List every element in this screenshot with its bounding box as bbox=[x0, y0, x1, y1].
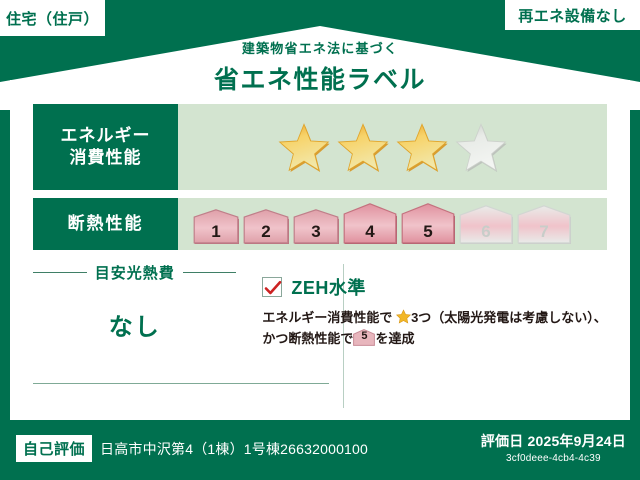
inline-insulation-badge: 5 bbox=[353, 329, 375, 346]
property-address: 日高市中沢第4（1棟）1号棟26632000100 bbox=[100, 439, 368, 459]
zeh-desc-part3: を達成 bbox=[375, 331, 414, 346]
inline-insulation-badge-number: 5 bbox=[353, 328, 375, 346]
tag-housing-type-label: 住宅（住戸） bbox=[6, 8, 99, 29]
bottom-section: 目安光熱費 なし ZEH水準 エネルギー消費性能で bbox=[23, 256, 617, 416]
tag-housing-type: 住宅（住戸） bbox=[0, 0, 105, 36]
footer-left: 自己評価 日高市中沢第4（1棟）1号棟26632000100 bbox=[16, 435, 368, 462]
insulation-grade-badge: 6 bbox=[458, 205, 514, 245]
insulation-grade-badge: 7 bbox=[516, 205, 572, 245]
star-icon bbox=[396, 309, 411, 324]
self-evaluation-badge: 自己評価 bbox=[16, 435, 92, 462]
star-icon bbox=[278, 121, 330, 173]
insulation-grade-badge: 5 bbox=[400, 203, 456, 245]
house-badge-icon bbox=[516, 205, 572, 245]
insulation-label: 断熱性能 bbox=[68, 213, 144, 235]
footer-right: 評価日 2025年9月24日 3cf0deee-4cb4-4c39 bbox=[481, 431, 626, 464]
star-rating bbox=[278, 121, 507, 173]
heading-rule-right bbox=[183, 272, 237, 273]
insulation-grade-badge: 2 bbox=[242, 209, 290, 245]
page-title: 省エネ性能ラベル bbox=[0, 60, 640, 96]
row-energy-performance: エネルギー 消費性能 bbox=[33, 104, 607, 190]
zeh-description: エネルギー消費性能で 3つ（太陽光発電は考慮しない）、かつ断熱性能で 5 を達成 bbox=[262, 307, 609, 349]
energy-performance-value bbox=[178, 104, 607, 190]
tag-renewable-energy: 再エネ設備なし bbox=[505, 0, 640, 30]
utility-cost-heading-label: 目安光熱費 bbox=[95, 262, 175, 283]
house-badge-icon bbox=[242, 209, 290, 245]
label-card: エネルギー 消費性能 断熱性能 1234567 目安光熱費 bbox=[23, 96, 617, 416]
insulation-grade-badge: 4 bbox=[342, 203, 398, 245]
utility-cost-section: 目安光熱費 なし bbox=[23, 256, 246, 416]
zeh-heading: ZEH水準 bbox=[262, 274, 609, 300]
utility-cost-value: なし bbox=[23, 307, 246, 342]
star-icon bbox=[396, 121, 448, 173]
row-insulation-performance: 断熱性能 1234567 bbox=[33, 198, 607, 250]
house-badge-icon bbox=[342, 203, 398, 245]
evaluation-date: 評価日 2025年9月24日 bbox=[481, 431, 626, 451]
star-icon bbox=[337, 121, 389, 173]
insulation-grade-badge: 3 bbox=[292, 209, 340, 245]
energy-label-line2: 消費性能 bbox=[70, 147, 142, 169]
insulation-performance-label-block: 断熱性能 bbox=[33, 198, 178, 250]
zeh-checkbox[interactable] bbox=[262, 277, 282, 297]
check-icon bbox=[264, 279, 282, 297]
zeh-title: ZEH水準 bbox=[291, 274, 366, 300]
insulation-grade-badge: 1 bbox=[192, 209, 240, 245]
energy-performance-label-block: エネルギー 消費性能 bbox=[33, 104, 178, 190]
utility-cost-heading: 目安光熱費 bbox=[33, 262, 236, 283]
house-badge-icon bbox=[458, 205, 514, 245]
house-badge-icon bbox=[292, 209, 340, 245]
star-icon bbox=[455, 121, 507, 173]
header-titles: 建築物省エネ法に基づく 省エネ性能ラベル bbox=[0, 38, 640, 96]
heading-rule-left bbox=[33, 272, 87, 273]
zeh-section: ZEH水準 エネルギー消費性能で 3つ（太陽光発電は考慮しない）、かつ断熱性能で… bbox=[246, 256, 617, 416]
insulation-grade-scale: 1234567 bbox=[192, 203, 572, 245]
zeh-desc-part1: エネルギー消費性能で bbox=[262, 310, 392, 325]
header-subtitle: 建築物省エネ法に基づく bbox=[0, 38, 640, 57]
house-badge-icon bbox=[400, 203, 456, 245]
insulation-performance-value: 1234567 bbox=[178, 198, 607, 250]
evaluation-hash: 3cf0deee-4cb4-4c39 bbox=[481, 453, 626, 464]
house-badge-icon bbox=[192, 209, 240, 245]
tag-renewable-energy-label: 再エネ設備なし bbox=[518, 5, 627, 26]
energy-performance-label: 住宅（住戸） 再エネ設備なし 建築物省エネ法に基づく 省エネ性能ラベル エネルギ… bbox=[0, 0, 640, 480]
energy-label-line1: エネルギー bbox=[61, 125, 151, 147]
